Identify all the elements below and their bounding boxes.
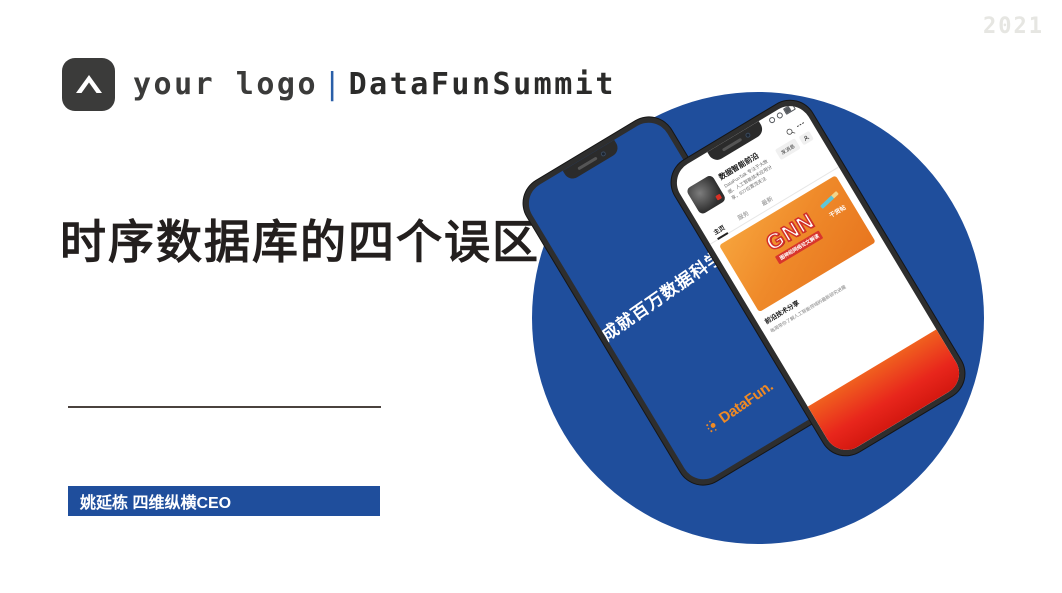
profile-icon[interactable] (799, 131, 814, 146)
hero-illustration: 成就百万数据科学家 DataFun. (532, 92, 992, 552)
card-burst-graphic: GNN 图神经网络论文解读 (763, 210, 824, 265)
tab-home[interactable]: 主页 (711, 223, 727, 239)
logo-divider: | (323, 67, 344, 102)
page-title: 时序数据库的四个误区 (60, 206, 540, 272)
datafun-logo: DataFun. (703, 378, 776, 437)
speaker-grille-icon (722, 138, 742, 152)
wifi-icon (768, 116, 776, 124)
year-marker: 2021 (983, 14, 1044, 39)
more-dots-icon[interactable] (797, 122, 806, 129)
tab-service[interactable]: 服务 (735, 208, 751, 224)
title-divider (68, 406, 381, 408)
front-camera-icon (745, 132, 752, 139)
account-actions: 发消息 (769, 120, 815, 161)
card-tagline: 干货帖 (827, 202, 847, 219)
speaker-label: 姚延栋 四维纵横CEO (80, 489, 231, 513)
datafun-logo-text: DataFun. (716, 378, 776, 427)
logo-your-label: your logo (133, 67, 318, 102)
subscribe-button[interactable]: 发消息 (775, 138, 801, 160)
search-icon[interactable] (784, 126, 796, 138)
speaker-banner: 姚延栋 四维纵横CEO (68, 486, 380, 516)
phone-notch (563, 140, 621, 182)
speaker-grille-icon (577, 156, 597, 170)
front-camera-icon (600, 150, 607, 157)
signal-icon (775, 111, 783, 119)
tab-latest[interactable]: 最新 (759, 194, 775, 210)
chevron-up-logo-icon (62, 58, 115, 111)
battery-icon (783, 103, 796, 115)
presentation-slide: 2021 your logo | DataFunSummit 时序数据库的四个误… (0, 0, 1062, 593)
